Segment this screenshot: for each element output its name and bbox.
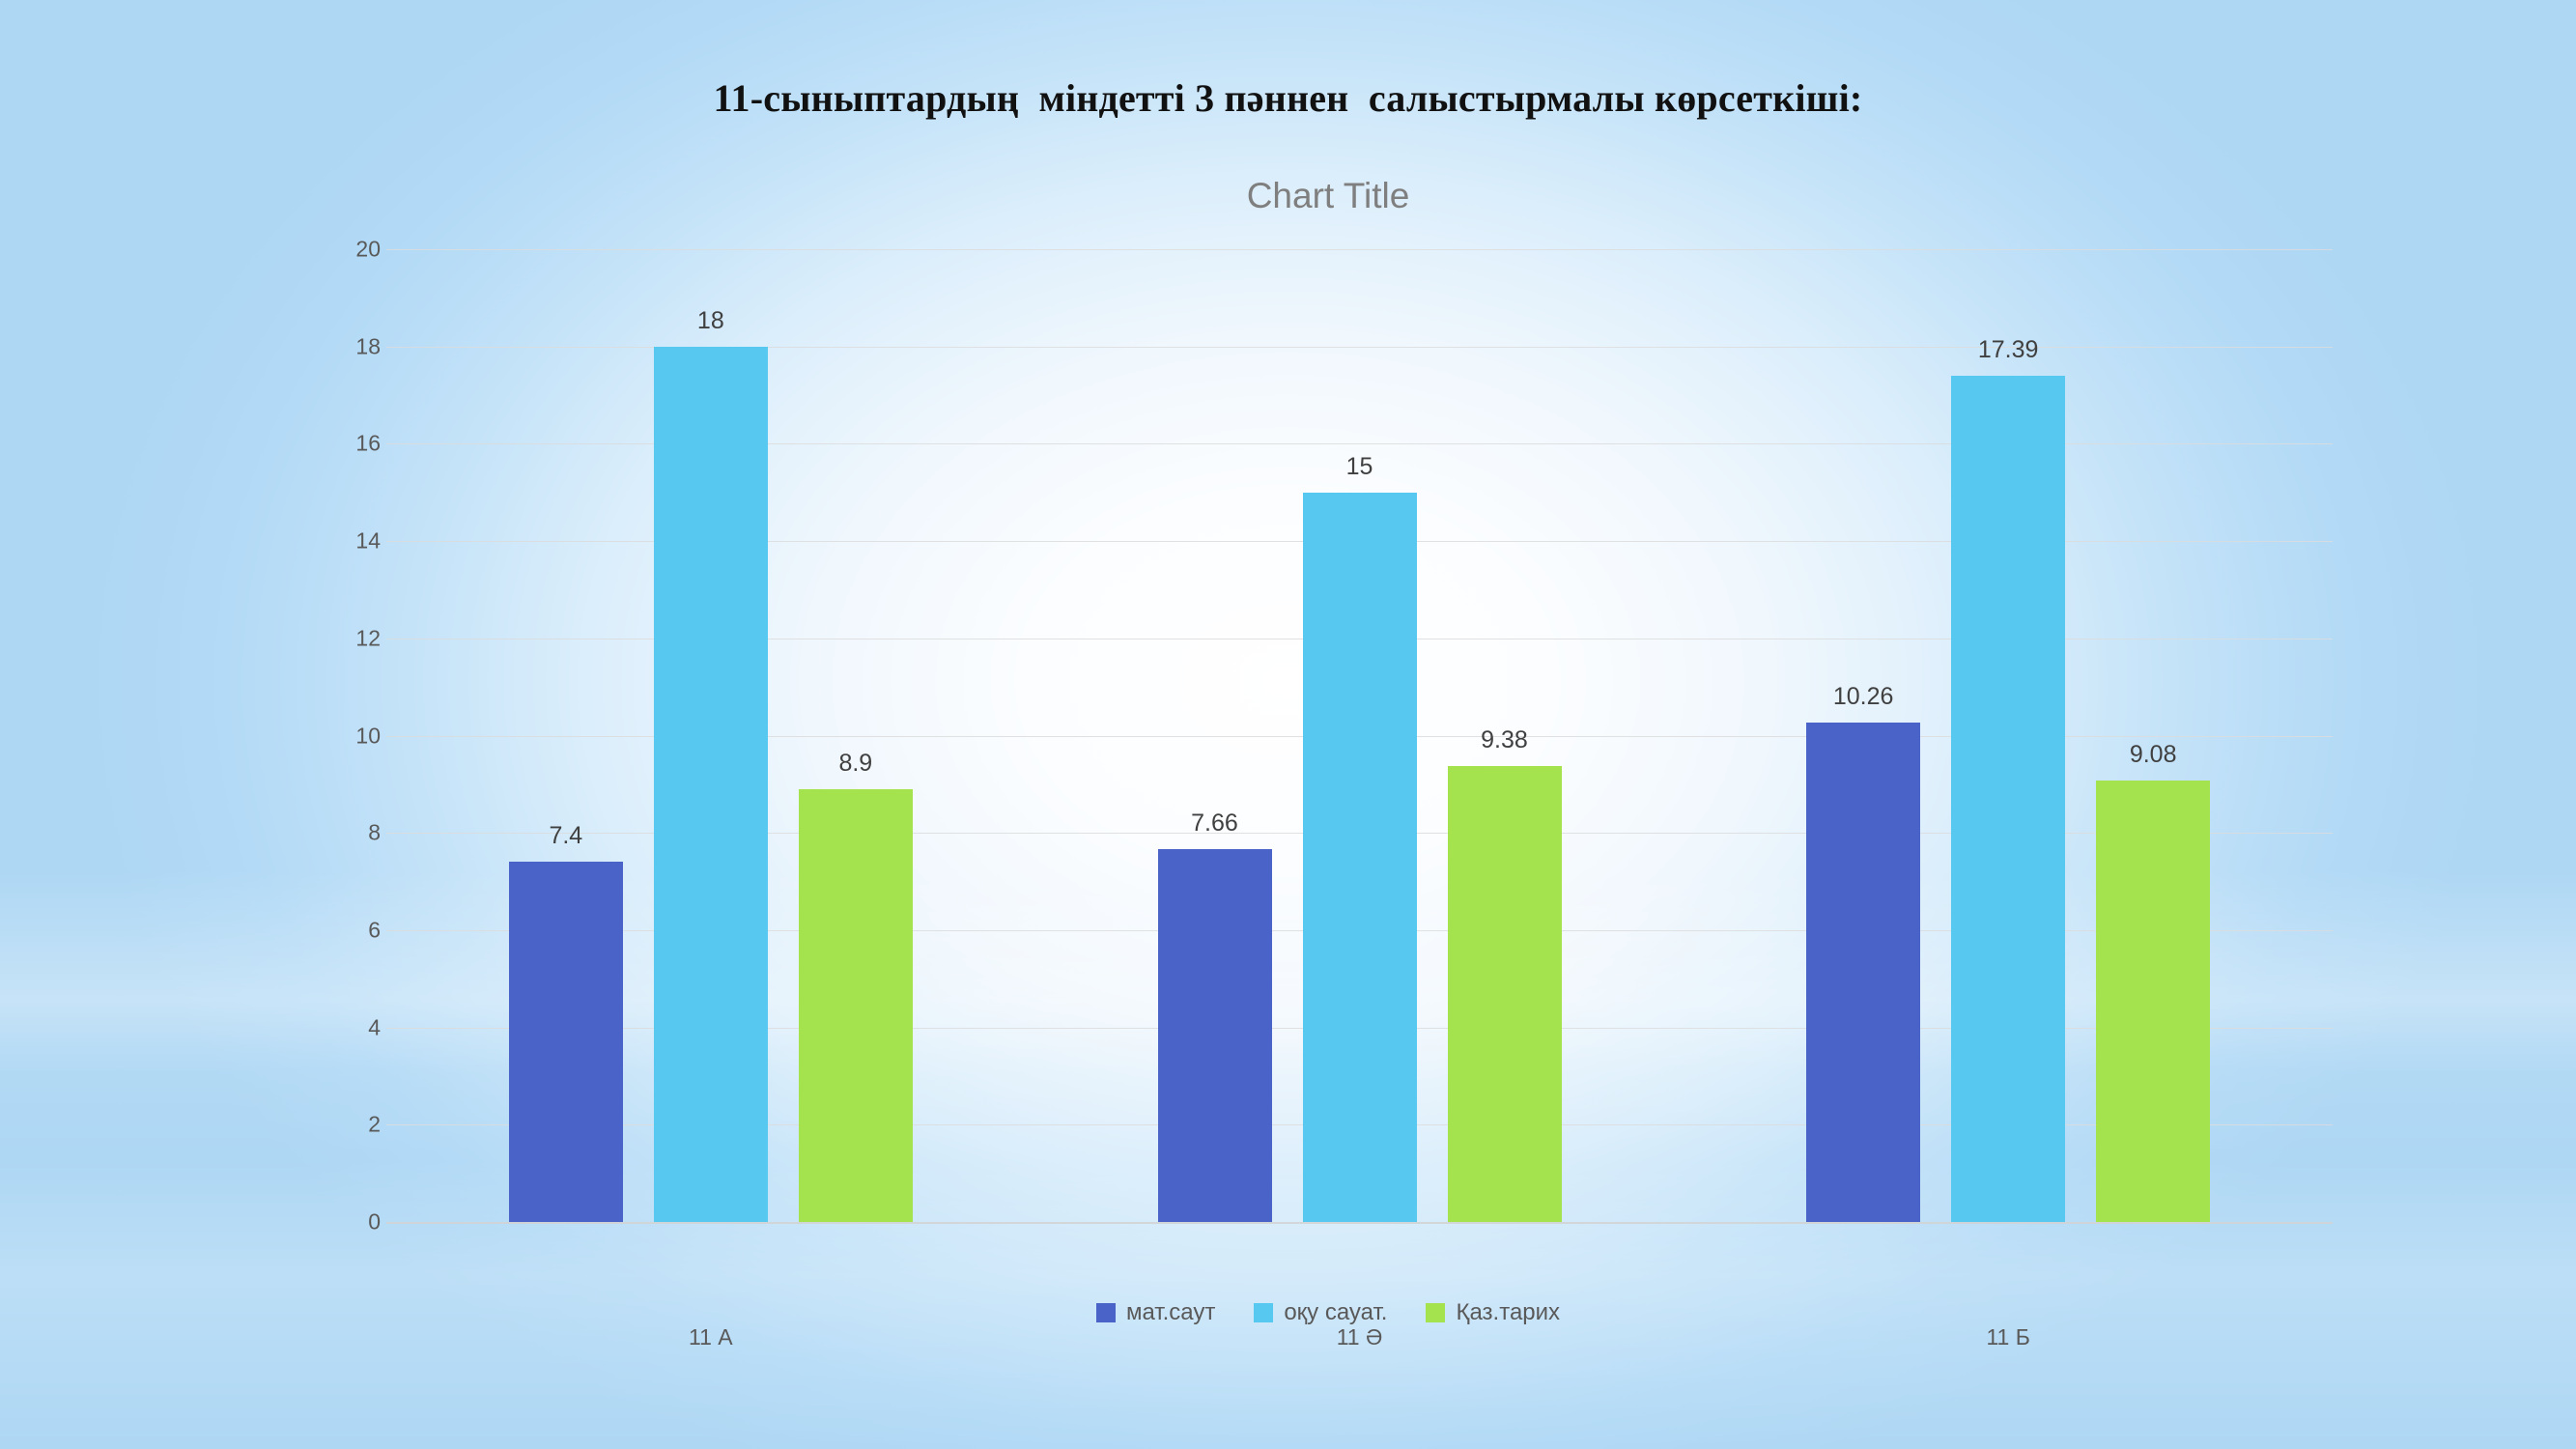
bar-мат.саут-11 А[interactable]: 7.4 — [509, 862, 623, 1222]
y-axis-tick-12: 12 — [265, 625, 381, 651]
bar-value-label: 10.26 — [1768, 683, 1959, 711]
bar-value-label: 18 — [615, 307, 807, 335]
y-axis-tick-10: 10 — [265, 723, 381, 749]
bar-group: 10.2617.399.08 — [1806, 249, 2210, 1222]
y-axis-tick-18: 18 — [265, 333, 381, 359]
y-axis-tick-6: 6 — [265, 917, 381, 943]
chart-legend[interactable]: мат.саутоқу сауат.Қаз.тарих — [290, 1299, 2366, 1326]
legend-item-мат.саут[interactable]: мат.саут — [1096, 1299, 1215, 1326]
bar-Қаз.тарих-11 А[interactable]: 8.9 — [799, 789, 913, 1222]
y-axis-tick-14: 14 — [265, 528, 381, 554]
bar-оқу сауат.-11 А[interactable]: 18 — [654, 347, 768, 1222]
bar-Қаз.тарих-11 Б[interactable]: 9.08 — [2096, 781, 2210, 1222]
bar-rect — [1951, 376, 2065, 1222]
y-axis-tick-16: 16 — [265, 431, 381, 457]
legend-label: оқу сауат. — [1284, 1299, 1387, 1326]
x-axis-category-label: 11 Ә — [1167, 1324, 1553, 1350]
legend-swatch-icon — [1426, 1303, 1445, 1322]
bar-rect — [799, 789, 913, 1222]
bar-rect — [1448, 766, 1562, 1222]
legend-swatch-icon — [1254, 1303, 1273, 1322]
bar-мат.саут-11 Б[interactable]: 10.26 — [1806, 723, 1920, 1222]
bar-rect — [509, 862, 623, 1222]
bar-value-label: 15 — [1264, 453, 1456, 481]
bar-мат.саут-11 Ә[interactable]: 7.66 — [1158, 849, 1272, 1222]
bar-rect — [2096, 781, 2210, 1222]
bar-value-label: 7.4 — [470, 822, 662, 850]
bar-value-label: 9.38 — [1409, 726, 1600, 754]
legend-label: Қаз.тарих — [1456, 1299, 1560, 1326]
bar-value-label: 9.08 — [2057, 741, 2249, 769]
bar-rect — [1303, 493, 1417, 1222]
legend-item-оқу сауат.[interactable]: оқу сауат. — [1254, 1299, 1387, 1326]
y-axis-tick-8: 8 — [265, 820, 381, 846]
chart-title: Chart Title — [290, 176, 2366, 216]
bar-rect — [1158, 849, 1272, 1222]
bar-оқу сауат.-11 Ә[interactable]: 15 — [1303, 493, 1417, 1222]
gridline-0 — [386, 1222, 2333, 1224]
legend-label: мат.саут — [1126, 1299, 1215, 1326]
y-axis-tick-0: 0 — [265, 1209, 381, 1236]
bar-rect — [654, 347, 768, 1222]
bar-value-label: 17.39 — [1912, 336, 2104, 364]
y-axis-tick-2: 2 — [265, 1112, 381, 1138]
bar-group: 7.4188.9 — [509, 249, 913, 1222]
bar-chart[interactable]: Chart Title 024681012141618207.4188.911 … — [290, 155, 2366, 1343]
legend-item-Қаз.тарих[interactable]: Қаз.тарих — [1426, 1299, 1560, 1326]
bar-value-label: 7.66 — [1119, 810, 1311, 838]
bar-group: 7.66159.38 — [1158, 249, 1562, 1222]
bar-Қаз.тарих-11 Ә[interactable]: 9.38 — [1448, 766, 1562, 1222]
legend-swatch-icon — [1096, 1303, 1116, 1322]
slide-title: 11-сыныптардың міндетті 3 пәннен салысты… — [0, 75, 2576, 121]
y-axis-tick-4: 4 — [265, 1014, 381, 1040]
plot-area: 024681012141618207.4188.911 А7.66159.381… — [386, 249, 2333, 1222]
x-axis-category-label: 11 А — [518, 1324, 904, 1350]
bar-оқу сауат.-11 Б[interactable]: 17.39 — [1951, 376, 2065, 1222]
y-axis-tick-20: 20 — [265, 237, 381, 263]
bar-rect — [1806, 723, 1920, 1222]
x-axis-category-label: 11 Б — [1815, 1324, 2201, 1350]
bar-value-label: 8.9 — [760, 750, 951, 778]
